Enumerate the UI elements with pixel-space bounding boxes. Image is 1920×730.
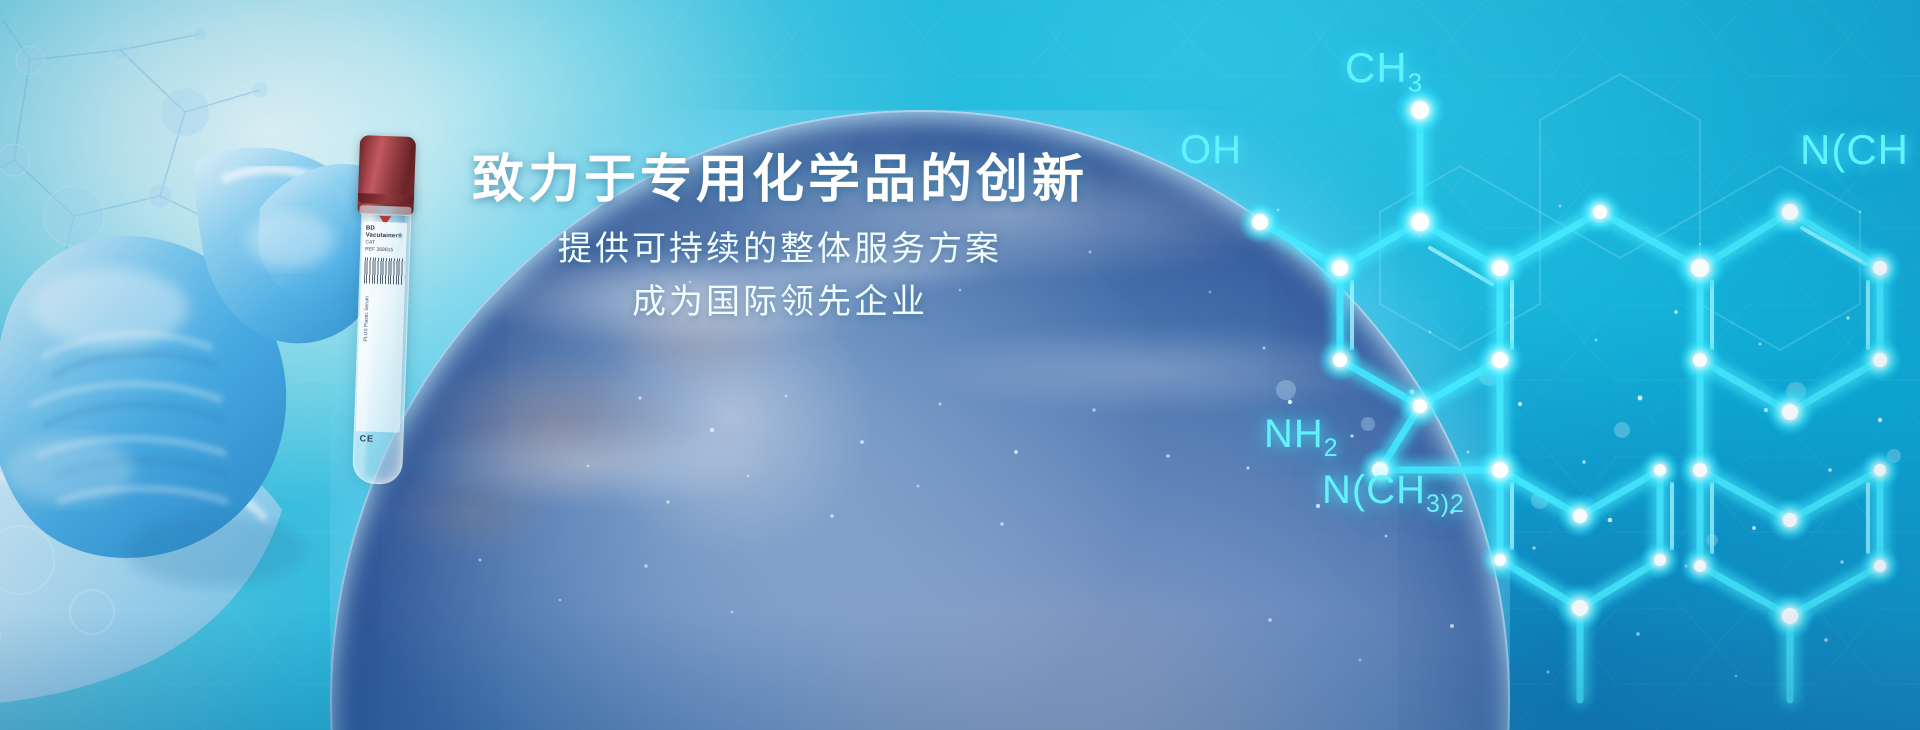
subtitle-line-2: 成为国际领先企业 — [0, 277, 1560, 328]
hero-banner: BD Vacutainer® CAT REF 368815 PLUS Plast… — [0, 0, 1920, 730]
chem-label-nch3-2: N(CH3)2 — [1322, 468, 1465, 519]
banner-copy: 致力于专用化学品的创新 提供可持续的整体服务方案 成为国际领先企业 — [0, 150, 1560, 328]
chem-label-nch-top: N(CH — [1800, 126, 1909, 174]
chem-label-ch3: CH3 — [1345, 44, 1423, 98]
page-title: 致力于专用化学品的创新 — [0, 150, 1560, 210]
vignette-overlay — [0, 0, 1920, 730]
chem-label-nh2: NH2 — [1264, 412, 1339, 463]
subtitle-line-1: 提供可持续的整体服务方案 — [0, 224, 1560, 275]
